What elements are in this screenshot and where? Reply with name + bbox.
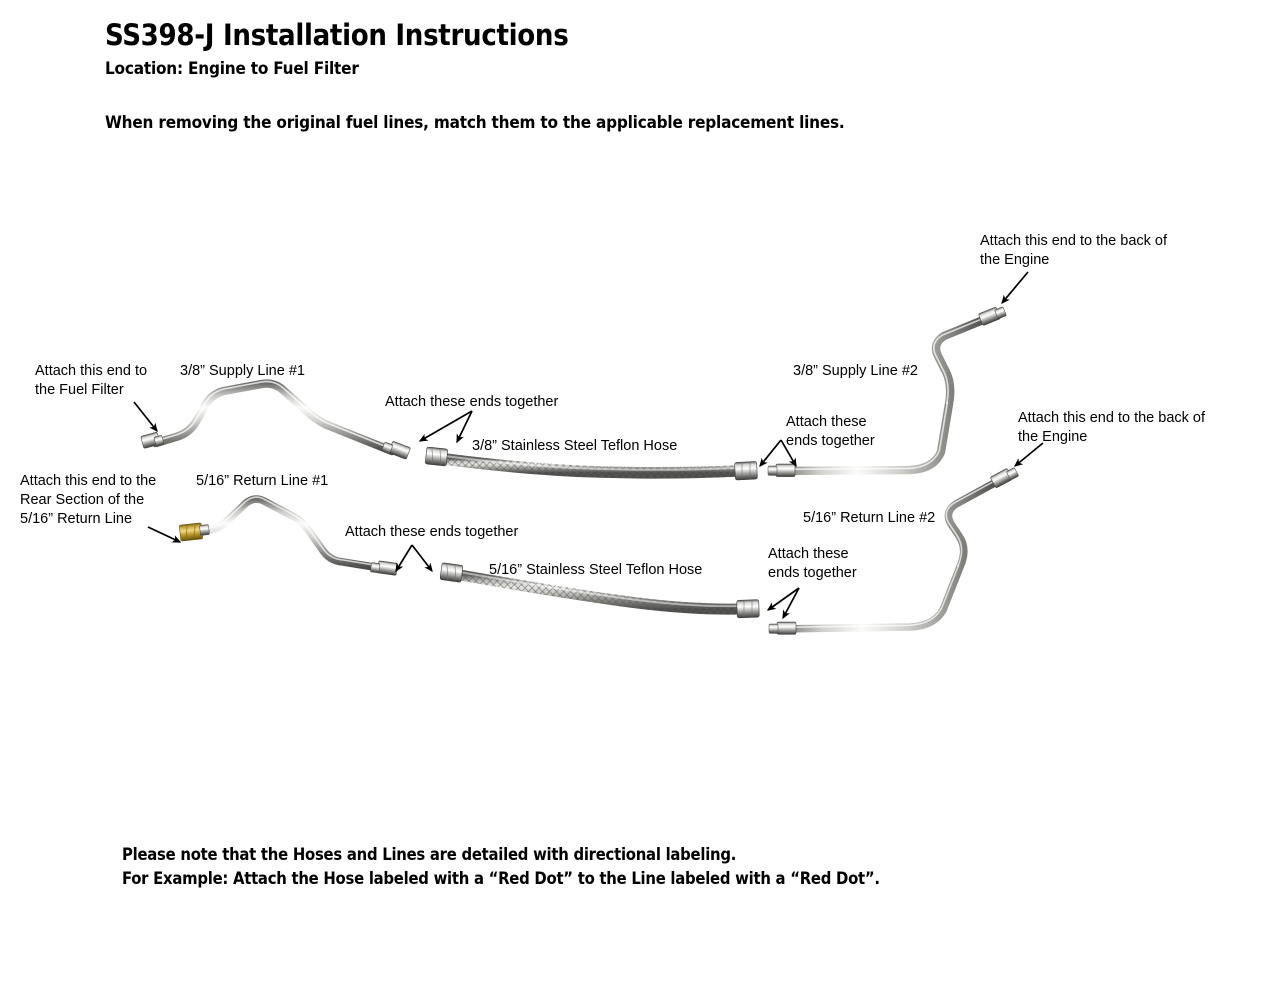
arrow-supply-joint2-to-hose [760, 440, 781, 466]
page-title: SS398-J Installation Instructions [105, 20, 845, 50]
label-supply-hose: 3/8” Stainless Steel Teflon Hose [472, 437, 677, 456]
label-supply-line-2: 3/8” Supply Line #2 [793, 362, 918, 381]
callout-return-rear-section-label: Attach this end to the Rear Section of t… [20, 472, 156, 529]
callout-supply-engine-label: Attach this end to the back of the Engin… [980, 232, 1167, 270]
arrow-supply-engine [1002, 272, 1028, 303]
callout-supply-joint-right-label: Attach these ends together [786, 413, 875, 451]
callout-fuel-filter-label: Attach this end to the Fuel Filter [35, 362, 147, 400]
fitting-supply-hose-left [425, 447, 448, 466]
intro-text: When removing the original fuel lines, m… [105, 113, 845, 133]
callout-return-joint-right-label: Attach these ends together [768, 545, 857, 583]
fuel-line-diagram [0, 0, 1280, 989]
callout-return-engine-label: Attach this end to the back of the Engin… [1018, 409, 1205, 447]
fitting-return-hose-right [737, 600, 760, 618]
fitting-supply-hose-right [735, 461, 758, 480]
arrow-return-joint2-to-hose [768, 588, 799, 610]
label-supply-line-1: 3/8” Supply Line #1 [180, 362, 305, 381]
arrow-fuel-filter [134, 402, 157, 431]
label-return-line-2: 5/16” Return Line #2 [803, 509, 935, 528]
arrow-supply-joint-to-hose [457, 411, 472, 442]
document-footer: Please note that the Hoses and Lines are… [122, 843, 880, 891]
document-header: SS398-J Installation Instructions Locati… [105, 20, 845, 133]
arrow-return-joint-to-hose [412, 545, 432, 571]
footer-note-line-1: Please note that the Hoses and Lines are… [122, 843, 880, 867]
arrow-supply-joint-to-line [420, 411, 472, 441]
callout-supply-joint-left-label: Attach these ends together [385, 393, 558, 412]
component-supply-line-1 [141, 382, 411, 460]
arrow-return-joint2-to-line [783, 588, 799, 618]
arrow-return-joint-to-line [396, 545, 412, 571]
callout-return-joint-left-label: Attach these ends together [345, 523, 518, 542]
label-return-hose: 5/16” Stainless Steel Teflon Hose [489, 561, 702, 580]
installation-instructions-page: SS398-J Installation Instructions Locati… [0, 0, 1280, 989]
footer-note-line-2: For Example: Attach the Hose labeled wit… [122, 867, 880, 891]
page-subtitle: Location: Engine to Fuel Filter [105, 59, 845, 79]
label-return-line-1: 5/16” Return Line #1 [196, 472, 328, 491]
